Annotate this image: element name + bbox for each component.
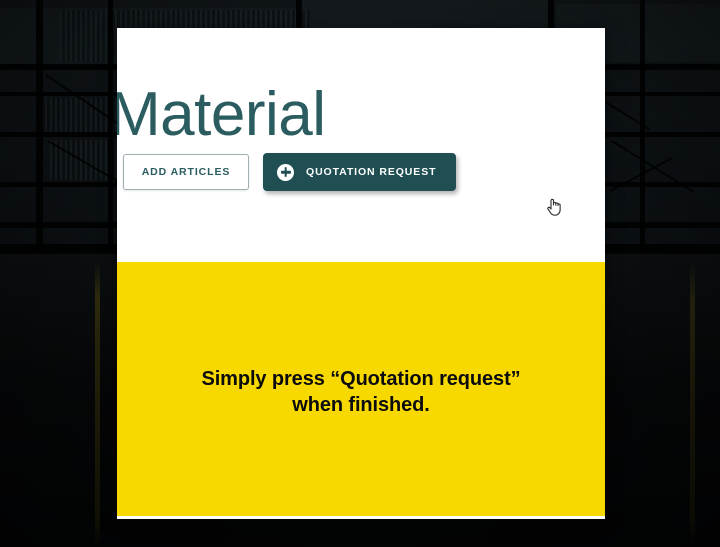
yellow-instruction-banner: Simply press “Quotation request” when fi… — [117, 262, 605, 516]
quotation-request-label: QUOTATION REQUEST — [306, 166, 436, 178]
page-title: Material — [117, 84, 326, 146]
screenshot-root: Material ADD ARTICLES QUOTATION REQUEST … — [0, 0, 720, 547]
plus-circle-icon — [277, 164, 294, 181]
quotation-request-button[interactable]: QUOTATION REQUEST — [263, 153, 456, 191]
add-articles-button[interactable]: ADD ARTICLES — [123, 154, 249, 190]
content-card: Material ADD ARTICLES QUOTATION REQUEST … — [117, 28, 605, 519]
banner-text: Simply press “Quotation request” when fi… — [201, 367, 520, 418]
rack-column-post — [36, 0, 43, 250]
banner-line-2: when finished. — [292, 394, 430, 416]
action-button-row: ADD ARTICLES QUOTATION REQUEST — [123, 153, 456, 191]
rack-column-post — [108, 0, 113, 250]
pointing-hand-cursor — [546, 197, 562, 217]
banner-line-1: Simply press “Quotation request” — [201, 368, 520, 390]
card-header-area: Material ADD ARTICLES QUOTATION REQUEST — [117, 28, 605, 262]
